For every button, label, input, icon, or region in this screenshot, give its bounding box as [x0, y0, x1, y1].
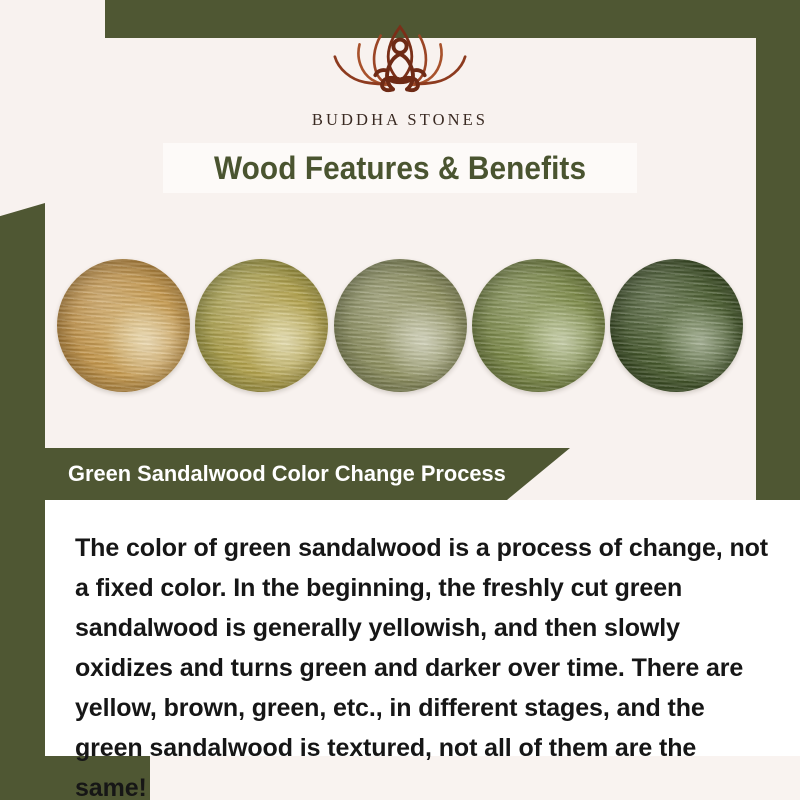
brand-wordmark: BUDDHA STONES	[312, 110, 488, 130]
bead-stage-4-olive-green	[472, 259, 605, 392]
description-paragraph: The color of green sandalwood is a proce…	[75, 528, 770, 800]
frame-left-bar	[0, 203, 45, 800]
bead-shading	[57, 259, 190, 392]
page-title: Wood Features & Benefits	[214, 150, 586, 187]
bead-stage-5-dark-green	[610, 259, 743, 392]
bead-color-stage-row	[45, 255, 755, 395]
description-panel: The color of green sandalwood is a proce…	[45, 500, 800, 756]
bead-shading	[334, 259, 467, 392]
lotus-meditation-figure-icon	[310, 18, 490, 106]
bead-shading	[472, 259, 605, 392]
bead-shading	[195, 259, 328, 392]
poster-root: BUDDHA STONES Wood Features & Benefits	[0, 0, 800, 800]
page-title-band: Wood Features & Benefits	[163, 143, 637, 193]
process-banner-title: Green Sandalwood Color Change Process	[68, 461, 506, 487]
process-banner: Green Sandalwood Color Change Process	[45, 448, 570, 500]
bead-stage-1-golden-yellow	[57, 259, 190, 392]
bead-shading	[610, 259, 743, 392]
bead-stage-2-yellow-green	[195, 259, 328, 392]
bead-stage-3-olive-grey	[334, 259, 467, 392]
brand-logo-block: BUDDHA STONES	[0, 18, 800, 130]
